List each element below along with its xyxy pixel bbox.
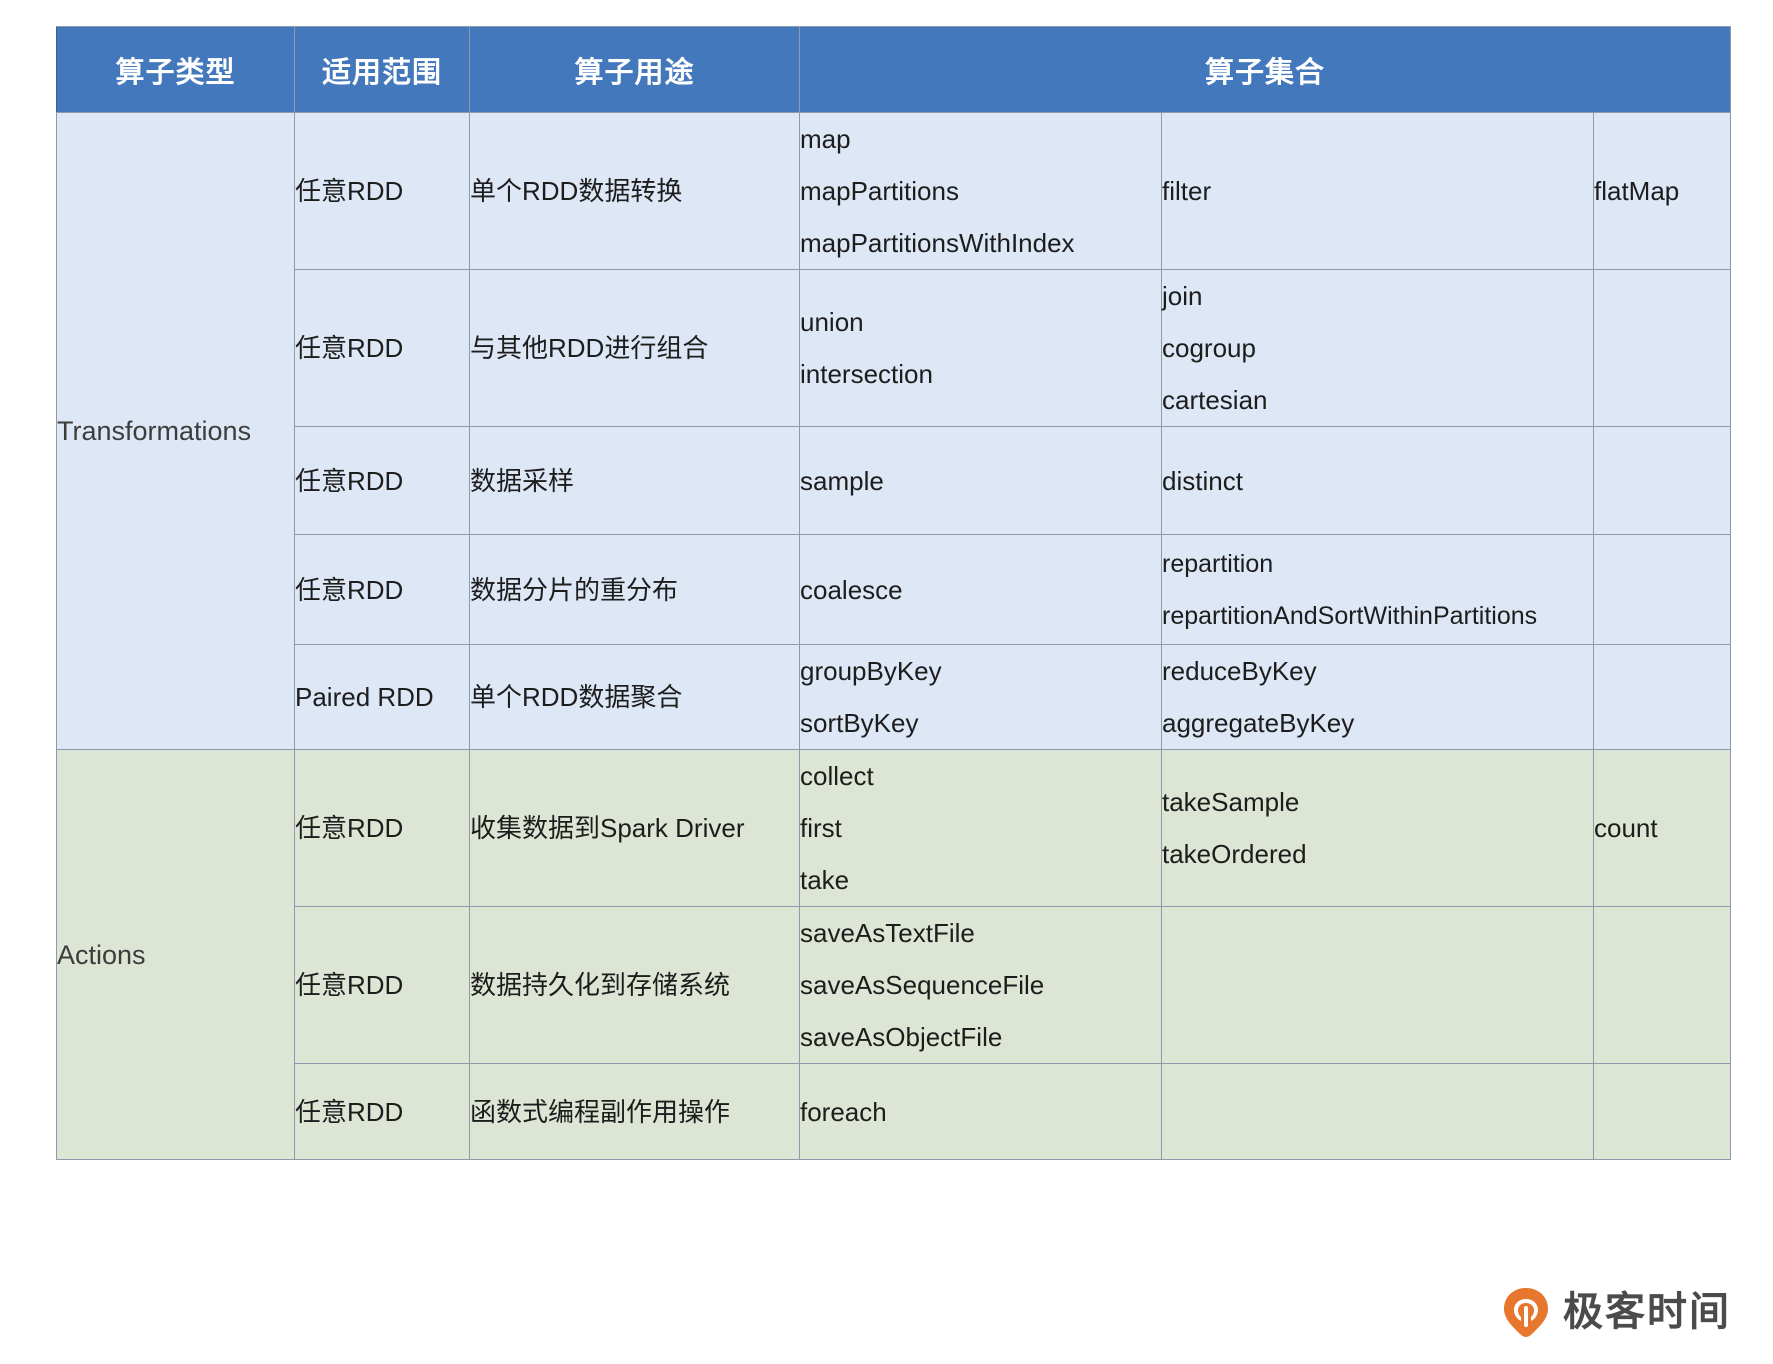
- cell-scope: 任意RDD: [295, 1064, 470, 1160]
- operator-item: foreach: [800, 1086, 1161, 1138]
- cell-operators-b: reduceByKey aggregateByKey: [1162, 645, 1594, 750]
- operator-item: mapPartitions: [800, 165, 1161, 217]
- cell-scope: Paired RDD: [295, 645, 470, 750]
- header-cell-purpose: 算子用途: [470, 27, 800, 113]
- header-row: 算子类型 适用范围 算子用途 算子集合: [57, 27, 1731, 113]
- cell-purpose: 函数式编程副作用操作: [470, 1064, 800, 1160]
- cell-operators-b: filter: [1162, 113, 1594, 270]
- operator-item: take: [800, 854, 1161, 906]
- cell-operators-b: [1162, 1064, 1594, 1160]
- cell-operators-c: [1594, 907, 1731, 1064]
- operator-table-container: 算子类型 适用范围 算子用途 算子集合 Transformations 任意RD…: [56, 26, 1730, 1160]
- operator-item: coalesce: [800, 564, 1161, 616]
- operator-item: takeSample: [1162, 776, 1593, 828]
- table-header: 算子类型 适用范围 算子用途 算子集合: [57, 27, 1731, 113]
- section-label-transformations: Transformations: [57, 113, 295, 750]
- operator-item: count: [1594, 802, 1730, 854]
- operator-item: first: [800, 802, 1161, 854]
- cell-operators-b: [1162, 907, 1594, 1064]
- operator-item: sortByKey: [800, 697, 1161, 749]
- cell-operators-b: distinct: [1162, 427, 1594, 535]
- table-row: 任意RDD 函数式编程副作用操作 foreach: [57, 1064, 1731, 1160]
- cell-scope: 任意RDD: [295, 427, 470, 535]
- header-cell-operator-set: 算子集合: [800, 27, 1731, 113]
- operator-item: join: [1162, 270, 1593, 322]
- operator-item: cogroup: [1162, 322, 1593, 374]
- cell-purpose: 收集数据到Spark Driver: [470, 750, 800, 907]
- cell-operators-c: [1594, 270, 1731, 427]
- operator-item: saveAsSequenceFile: [800, 959, 1161, 1011]
- operator-item: map: [800, 113, 1161, 165]
- operator-item: saveAsTextFile: [800, 907, 1161, 959]
- cell-purpose: 数据分片的重分布: [470, 535, 800, 645]
- cell-operators-c: [1594, 427, 1731, 535]
- cell-operators-a: union intersection: [800, 270, 1162, 427]
- cell-operators-a: saveAsTextFile saveAsSequenceFile saveAs…: [800, 907, 1162, 1064]
- table-body: Transformations 任意RDD 单个RDD数据转换 map mapP…: [57, 113, 1731, 1160]
- operator-item: takeOrdered: [1162, 828, 1593, 880]
- page-root: 算子类型 适用范围 算子用途 算子集合 Transformations 任意RD…: [0, 0, 1773, 1364]
- header-cell-scope: 适用范围: [295, 27, 470, 113]
- table-row: 任意RDD 数据分片的重分布 coalesce repartition repa…: [57, 535, 1731, 645]
- operator-item: repartitionAndSortWithinPartitions: [1162, 590, 1593, 642]
- cell-purpose: 数据采样: [470, 427, 800, 535]
- table-row: Actions 任意RDD 收集数据到Spark Driver collect …: [57, 750, 1731, 907]
- operator-item: distinct: [1162, 455, 1593, 507]
- cell-purpose: 单个RDD数据聚合: [470, 645, 800, 750]
- rdd-operator-table: 算子类型 适用范围 算子用途 算子集合 Transformations 任意RD…: [56, 26, 1731, 1160]
- cell-purpose: 单个RDD数据转换: [470, 113, 800, 270]
- cell-operators-a: sample: [800, 427, 1162, 535]
- cell-operators-a: groupByKey sortByKey: [800, 645, 1162, 750]
- operator-item: groupByKey: [800, 645, 1161, 697]
- table-row: 任意RDD 数据持久化到存储系统 saveAsTextFile saveAsSe…: [57, 907, 1731, 1064]
- cell-operators-c: flatMap: [1594, 113, 1731, 270]
- cell-scope: 任意RDD: [295, 750, 470, 907]
- operator-item: flatMap: [1594, 165, 1730, 217]
- operator-item: intersection: [800, 348, 1161, 400]
- cell-operators-b: join cogroup cartesian: [1162, 270, 1594, 427]
- section-label-actions: Actions: [57, 750, 295, 1160]
- header-cell-operator-type: 算子类型: [57, 27, 295, 113]
- cell-operators-b: repartition repartitionAndSortWithinPart…: [1162, 535, 1594, 645]
- cell-purpose: 与其他RDD进行组合: [470, 270, 800, 427]
- operator-item: union: [800, 296, 1161, 348]
- table-row: 任意RDD 与其他RDD进行组合 union intersection join…: [57, 270, 1731, 427]
- operator-item: aggregateByKey: [1162, 697, 1593, 749]
- operator-item: cartesian: [1162, 374, 1593, 426]
- cell-operators-c: [1594, 645, 1731, 750]
- operator-item: sample: [800, 455, 1161, 507]
- operator-item: collect: [800, 750, 1161, 802]
- cell-scope: 任意RDD: [295, 535, 470, 645]
- operator-item: mapPartitionsWithIndex: [800, 217, 1161, 269]
- cell-operators-a: coalesce: [800, 535, 1162, 645]
- table-row: 任意RDD 数据采样 sample distinct: [57, 427, 1731, 535]
- table-row: Paired RDD 单个RDD数据聚合 groupByKey sortByKe…: [57, 645, 1731, 750]
- cell-operators-c: [1594, 535, 1731, 645]
- operator-item: reduceByKey: [1162, 645, 1593, 697]
- cell-operators-c: [1594, 1064, 1731, 1160]
- cell-operators-a: foreach: [800, 1064, 1162, 1160]
- cell-purpose: 数据持久化到存储系统: [470, 907, 800, 1064]
- cell-scope: 任意RDD: [295, 113, 470, 270]
- table-row: Transformations 任意RDD 单个RDD数据转换 map mapP…: [57, 113, 1731, 270]
- brand-name: 极客时间: [1563, 1292, 1731, 1332]
- geektime-logo-icon: [1501, 1286, 1551, 1338]
- cell-operators-c: count: [1594, 750, 1731, 907]
- brand-watermark: 极客时间: [1501, 1286, 1731, 1338]
- operator-item: filter: [1162, 165, 1593, 217]
- cell-scope: 任意RDD: [295, 907, 470, 1064]
- cell-scope: 任意RDD: [295, 270, 470, 427]
- cell-operators-a: map mapPartitions mapPartitionsWithIndex: [800, 113, 1162, 270]
- operator-item: repartition: [1162, 538, 1593, 590]
- operator-item: saveAsObjectFile: [800, 1011, 1161, 1063]
- cell-operators-b: takeSample takeOrdered: [1162, 750, 1594, 907]
- cell-operators-a: collect first take: [800, 750, 1162, 907]
